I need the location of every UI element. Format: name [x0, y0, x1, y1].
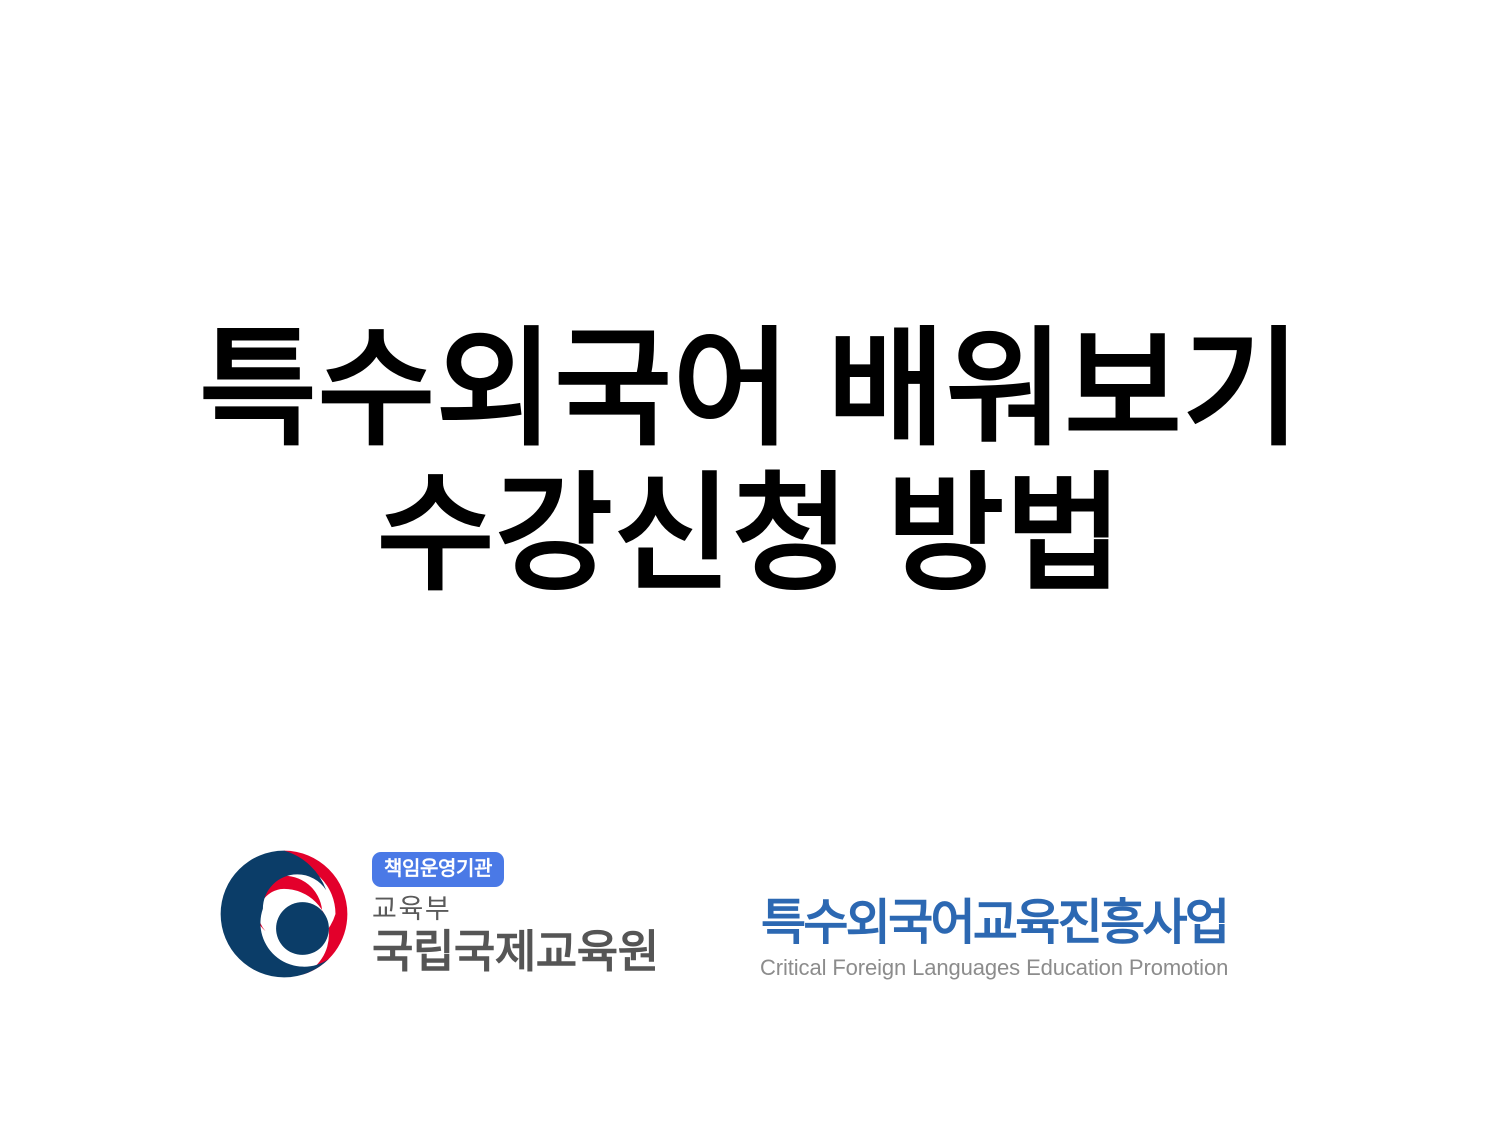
page-title: 특수외국어 배워보기 수강신청 방법 [0, 318, 1500, 607]
niied-logo-text: 책임운영기관 교육부 국립국제교육원 [372, 850, 659, 977]
slide-canvas: 특수외국어 배워보기 수강신청 방법 책임운영기관 교육부 국립국제교육원 [0, 0, 1500, 1125]
cfl-programme-logo: 특수외국어교육진흥사업 Critical Foreign Languages E… [760, 898, 1228, 981]
taegeuk-emblem-icon [218, 848, 350, 980]
institute-name: 국립국제교육원 [372, 927, 659, 977]
cfl-korean-name: 특수외국어교육진흥사업 [761, 898, 1227, 949]
niied-logo: 책임운영기관 교육부 국립국제교육원 [218, 848, 659, 980]
cfl-english-name: Critical Foreign Languages Education Pro… [760, 956, 1228, 980]
title-line-1: 특수외국어 배워보기 [0, 318, 1500, 463]
status-badge: 책임운영기관 [372, 852, 504, 887]
title-line-2: 수강신청 방법 [0, 463, 1500, 608]
footer-logo-strip: 책임운영기관 교육부 국립국제교육원 특수외국어교육진흥사업 Critical … [0, 840, 1500, 1030]
ministry-name: 교육부 [372, 894, 451, 925]
